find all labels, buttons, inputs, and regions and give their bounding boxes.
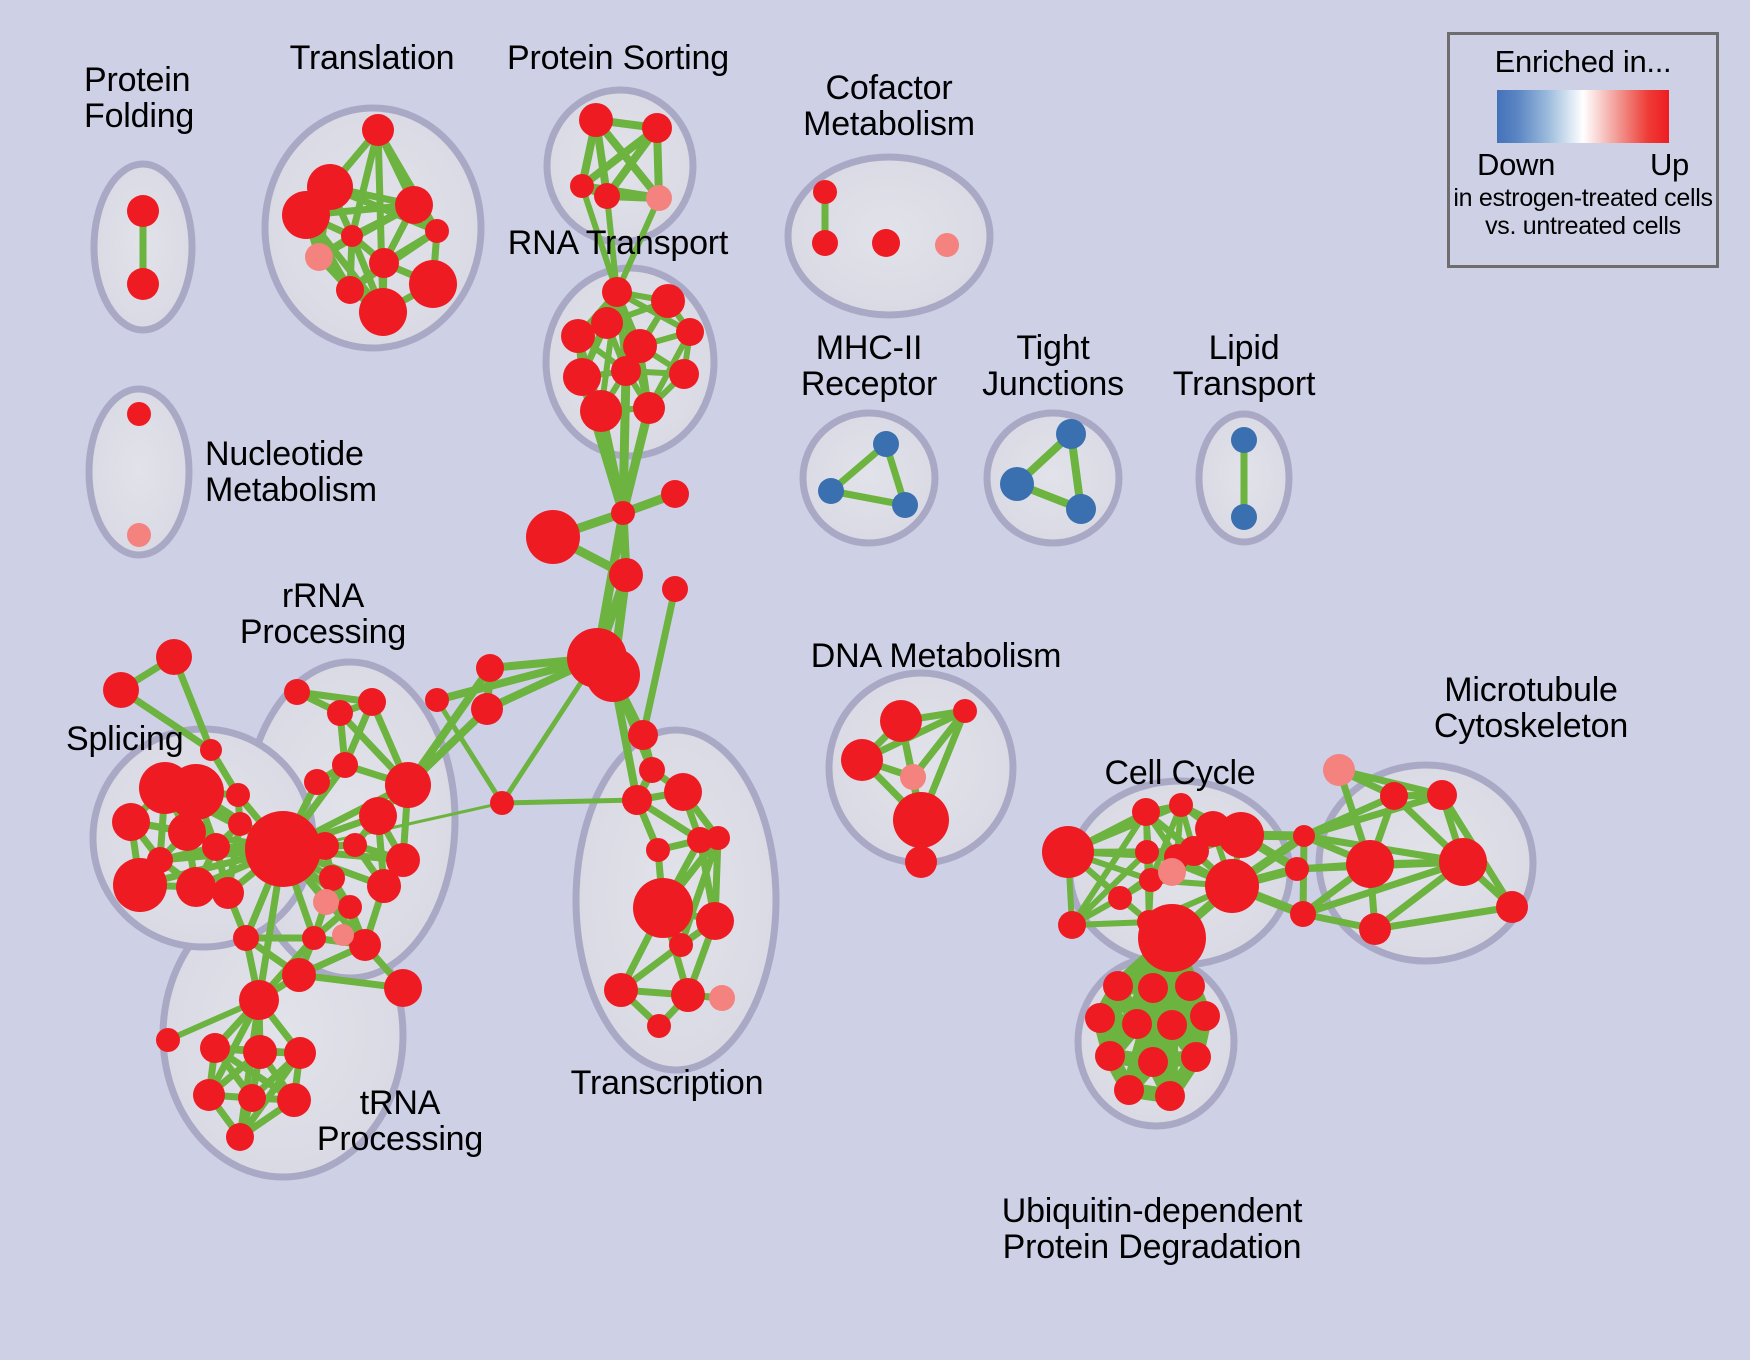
legend-panel: Enriched in... Down Up in estrogen-treat… bbox=[1447, 32, 1719, 268]
legend-subtitle: in estrogen-treated cells vs. untreated … bbox=[1453, 184, 1712, 241]
node-weak-up bbox=[332, 924, 354, 946]
node-weak-up bbox=[305, 243, 333, 271]
legend-high-label: Up bbox=[1650, 147, 1689, 183]
legend-low-label: Down bbox=[1477, 147, 1555, 183]
node-weak-up bbox=[900, 764, 926, 790]
node-weak-up bbox=[1323, 754, 1355, 786]
cluster-hull-mhc-ii-receptor bbox=[803, 413, 935, 543]
node-weak-up bbox=[127, 523, 151, 547]
edge bbox=[502, 800, 637, 803]
node-weak-up bbox=[313, 889, 339, 915]
node-weak-up bbox=[646, 185, 672, 211]
node-weak-up bbox=[709, 985, 735, 1011]
enrichment-map-figure: Protein FoldingTranslationProtein Sortin… bbox=[0, 0, 1750, 1360]
node-weak-up bbox=[1158, 858, 1186, 886]
node-up bbox=[127, 402, 151, 426]
cluster-hull-protein-sorting bbox=[547, 90, 693, 242]
legend-color-gradient-bar bbox=[1497, 90, 1669, 143]
legend-title: Enriched in... bbox=[1495, 44, 1672, 80]
node-weak-up bbox=[935, 233, 959, 257]
